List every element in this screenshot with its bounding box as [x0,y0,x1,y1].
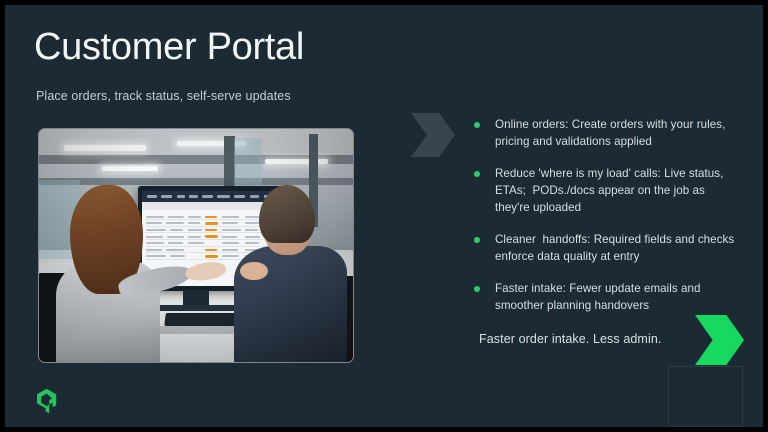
list-item-text: Cleaner handoffs: Required fields and ch… [495,231,739,265]
chevron-right-gray-icon [411,113,455,157]
list-item-text: Reduce 'where is my load' calls: Live st… [495,165,739,216]
hero-photo [38,128,354,363]
bullet-dot-icon [474,171,480,177]
bullet-dot-icon [474,122,480,128]
list-item: Online orders: Create orders with your r… [471,116,739,150]
list-item: Faster intake: Fewer update emails and s… [471,280,739,314]
benefits-list: Online orders: Create orders with your r… [471,116,739,329]
list-item: Cleaner handoffs: Required fields and ch… [471,231,739,265]
company-logo-q-hexagon-icon [35,388,59,414]
list-item-text: Online orders: Create orders with your r… [495,116,739,150]
tagline: Faster order intake. Less admin. [479,332,661,346]
page-title: Customer Portal [34,28,304,66]
bullet-dot-icon [474,286,480,292]
bullet-dot-icon [474,237,480,243]
photo-illustration [39,129,353,362]
list-item: Reduce 'where is my load' calls: Live st… [471,165,739,216]
placeholder-box [668,366,743,427]
photo-vignette [39,129,353,362]
list-item-text: Faster intake: Fewer update emails and s… [495,280,739,314]
page-subtitle: Place orders, track status, self-serve u… [36,89,291,103]
slide-canvas: Customer Portal Place orders, track stat… [5,5,763,427]
